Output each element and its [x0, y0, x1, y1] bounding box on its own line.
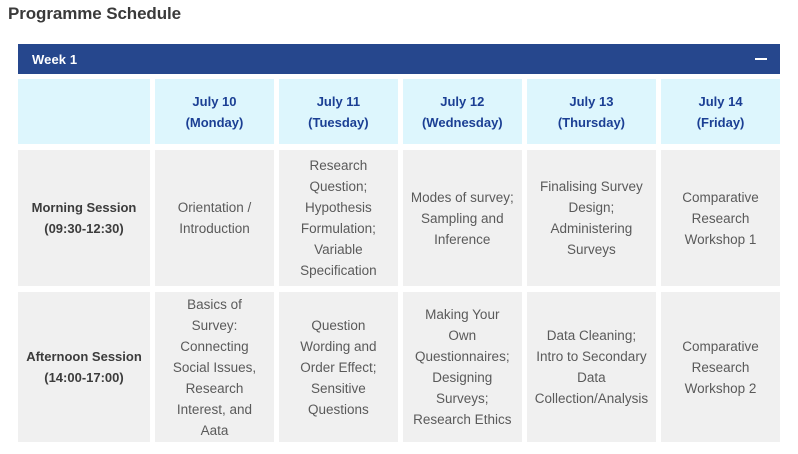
table-cell-morning-july-14: Comparative Research Workshop 1 [661, 150, 780, 286]
column-day: (Thursday) [558, 115, 625, 130]
corner-cell [18, 79, 150, 144]
row-label-text: Morning Session [32, 200, 137, 215]
column-day: (Monday) [186, 115, 244, 130]
cell-text: Comparative Research Workshop 2 [682, 336, 759, 399]
schedule-grid: July 10(Monday) July 11(Tuesday) July 12… [18, 74, 780, 442]
table-cell-morning-july-13: Finalising Survey Design; Administering … [527, 150, 656, 286]
column-date: July 10 [192, 94, 236, 109]
table-cell-afternoon-july-12: Making Your Own Questionnaires; Designin… [403, 292, 522, 442]
row-time-text: (09:30-12:30) [44, 221, 124, 236]
cell-text: Comparative Research Workshop 1 [682, 187, 759, 250]
programme-schedule-page: Programme Schedule Week 1 July 10(Monday… [0, 0, 798, 454]
column-header-july-12: July 12(Wednesday) [403, 79, 522, 144]
table-cell-afternoon-july-11: Question Wording and Order Effect; Sensi… [279, 292, 398, 442]
week-header-bar[interactable]: Week 1 [18, 44, 780, 74]
row-time-text: (14:00-17:00) [44, 370, 124, 385]
table-cell-morning-july-12: Modes of survey; Sampling and Inference [403, 150, 522, 286]
column-header-july-13: July 13(Thursday) [527, 79, 656, 144]
cell-text: Data Cleaning; Intro to Secondary Data C… [535, 325, 648, 409]
cell-text: Basics of Survey: Connecting Social Issu… [163, 294, 266, 441]
column-date: July 14 [698, 94, 742, 109]
column-header-july-11: July 11(Tuesday) [279, 79, 398, 144]
cell-text: Making Your Own Questionnaires; Designin… [413, 304, 511, 430]
table-cell-afternoon-july-10: Basics of Survey: Connecting Social Issu… [155, 292, 274, 442]
page-title: Programme Schedule [8, 2, 181, 26]
column-day: (Friday) [697, 115, 745, 130]
row-label-text: Afternoon Session [26, 349, 142, 364]
column-header-july-14: July 14(Friday) [661, 79, 780, 144]
schedule-table: Week 1 July 10(Monday) July 11(Tuesday) … [18, 44, 780, 442]
row-label-morning: Morning Session(09:30-12:30) [18, 150, 150, 286]
column-date: July 11 [317, 94, 360, 109]
cell-text: Orientation / Introduction [178, 197, 252, 239]
table-cell-afternoon-july-13: Data Cleaning; Intro to Secondary Data C… [527, 292, 656, 442]
column-date: July 13 [569, 94, 613, 109]
minus-icon[interactable] [754, 52, 768, 66]
column-day: (Wednesday) [422, 115, 503, 130]
column-date: July 12 [440, 94, 484, 109]
column-header-july-10: July 10(Monday) [155, 79, 274, 144]
table-cell-morning-july-10: Orientation / Introduction [155, 150, 274, 286]
week-label: Week 1 [32, 52, 77, 67]
cell-text: Research Question; Hypothesis Formulatio… [300, 155, 377, 281]
table-cell-afternoon-july-14: Comparative Research Workshop 2 [661, 292, 780, 442]
cell-text: Modes of survey; Sampling and Inference [411, 187, 514, 250]
column-day: (Tuesday) [308, 115, 368, 130]
table-cell-morning-july-11: Research Question; Hypothesis Formulatio… [279, 150, 398, 286]
cell-text: Question Wording and Order Effect; Sensi… [300, 315, 376, 420]
cell-text: Finalising Survey Design; Administering … [540, 176, 643, 260]
row-label-afternoon: Afternoon Session(14:00-17:00) [18, 292, 150, 442]
